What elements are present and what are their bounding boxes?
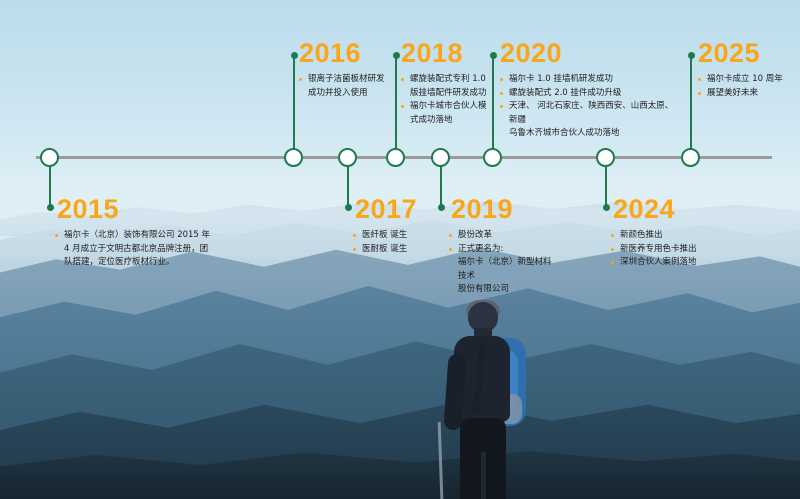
timeline-bullet-item: 福尔卡 1.0 挂墙机研发成功 [500, 73, 680, 87]
timeline-entry-2018[interactable]: 2018螺旋装配式专利 1.0版挂墙配件研发成功福尔卡城市合伙人模式成功落地 [401, 40, 493, 127]
timeline-bullet-item: 股份改革 [449, 229, 554, 243]
timeline-bullet-line: 队搭建，定位医疗板材行业。 [64, 256, 230, 270]
timeline-bullet-item: 福尔卡（北京）装饰有限公司 2015 年4 月成立于文明古都北京品牌注册，团队搭… [55, 229, 230, 270]
timeline-node-2018[interactable] [386, 148, 405, 167]
timeline-bullet-line: 版挂墙配件研发成功 [410, 87, 493, 101]
timeline-bullet-list: 福尔卡成立 10 周年展望美好未来 [698, 73, 800, 100]
timeline-node-2016[interactable] [284, 148, 303, 167]
hiker-leg-gap [481, 452, 486, 499]
timeline-bullet-line: 天津、 河北石家庄、陕西西安、山西太原、新疆 [509, 101, 673, 125]
timeline-bullet-line: 展望美好未来 [707, 88, 758, 98]
timeline-node-2024[interactable] [596, 148, 615, 167]
timeline-entry-2024[interactable]: 2024新颜色推出新医养专用色卡推出深圳合伙人案例落地 [611, 196, 731, 270]
timeline-bullet-line: 福尔卡城市合伙人模 [410, 101, 487, 111]
timeline-bullet-item: 展望美好未来 [698, 87, 800, 101]
timeline-entry-2017[interactable]: 2017医纤板 诞生医耐板 诞生 [353, 196, 448, 256]
timeline-bullet-list: 福尔卡 1.0 挂墙机研发成功螺旋装配式 2.0 挂件成功升级天津、 河北石家庄… [500, 73, 680, 141]
timeline-bullet-line: 股份改革 [458, 230, 492, 240]
timeline-year-label: 2017 [355, 196, 448, 223]
timeline-bullet-item: 医耐板 诞生 [353, 243, 448, 257]
timeline-bullet-item: 正式更名为:福尔卡（北京）新型材料技术股份有限公司 [449, 243, 554, 297]
timeline-entry-2015[interactable]: 2015福尔卡（北京）装饰有限公司 2015 年4 月成立于文明古都北京品牌注册… [55, 196, 230, 270]
timeline-stem-dot-2015 [47, 204, 54, 211]
timeline-bullet-line: 新颜色推出 [620, 230, 663, 240]
timeline-bullet-item: 福尔卡城市合伙人模式成功落地 [401, 100, 493, 127]
timeline-bullet-list: 银离子洁菌板材研发成功并投入使用 [299, 73, 409, 100]
timeline-stem-dot-2017 [345, 204, 352, 211]
timeline-entry-2025[interactable]: 2025福尔卡成立 10 周年展望美好未来 [698, 40, 800, 100]
timeline-infographic: 2015福尔卡（北京）装饰有限公司 2015 年4 月成立于文明古都北京品牌注册… [0, 0, 800, 499]
timeline-bullet-line: 股份有限公司 [458, 283, 554, 297]
timeline-bullet-line: 成功并投入使用 [308, 87, 409, 101]
timeline-node-2025[interactable] [681, 148, 700, 167]
timeline-bullet-item: 银离子洁菌板材研发成功并投入使用 [299, 73, 409, 100]
timeline-bullet-line: 福尔卡 1.0 挂墙机研发成功 [509, 74, 613, 84]
timeline-stem-dot-2016 [291, 52, 298, 59]
timeline-bullet-line: 深圳合伙人案例落地 [620, 257, 697, 267]
hiker-figure [430, 302, 548, 499]
trekking-pole [438, 422, 444, 499]
timeline-bullet-line: 式成功落地 [410, 114, 493, 128]
timeline-year-label: 2020 [500, 40, 680, 67]
timeline-bullet-line: 福尔卡（北京）装饰有限公司 2015 年 [64, 230, 210, 240]
timeline-bullet-line: 新医养专用色卡推出 [620, 244, 697, 254]
timeline-bullet-item: 螺旋装配式专利 1.0版挂墙配件研发成功 [401, 73, 493, 100]
timeline-node-2020[interactable] [483, 148, 502, 167]
timeline-entry-2016[interactable]: 2016银离子洁菌板材研发成功并投入使用 [299, 40, 409, 100]
timeline-bullet-item: 新颜色推出 [611, 229, 731, 243]
timeline-bullet-line: 螺旋装配式专利 1.0 [410, 74, 486, 84]
timeline-year-label: 2025 [698, 40, 800, 67]
timeline-year-label: 2019 [451, 196, 554, 223]
timeline-year-label: 2018 [401, 40, 493, 67]
timeline-bullet-line: 医耐板 诞生 [362, 244, 407, 254]
timeline-bullet-list: 螺旋装配式专利 1.0版挂墙配件研发成功福尔卡城市合伙人模式成功落地 [401, 73, 493, 127]
timeline-node-2019[interactable] [431, 148, 450, 167]
timeline-node-2017[interactable] [338, 148, 357, 167]
timeline-year-label: 2016 [299, 40, 409, 67]
timeline-bullet-line: 螺旋装配式 2.0 挂件成功升级 [509, 88, 621, 98]
timeline-bullet-item: 福尔卡成立 10 周年 [698, 73, 800, 87]
timeline-bullet-item: 深圳合伙人案例落地 [611, 256, 731, 270]
timeline-stem-dot-2025 [688, 52, 695, 59]
timeline-bullet-item: 螺旋装配式 2.0 挂件成功升级 [500, 87, 680, 101]
timeline-bullet-list: 新颜色推出新医养专用色卡推出深圳合伙人案例落地 [611, 229, 731, 270]
timeline-stem-2016 [293, 55, 295, 157]
timeline-node-2015[interactable] [40, 148, 59, 167]
timeline-entry-2020[interactable]: 2020福尔卡 1.0 挂墙机研发成功螺旋装配式 2.0 挂件成功升级天津、 河… [500, 40, 680, 141]
timeline-bullet-list: 股份改革正式更名为:福尔卡（北京）新型材料技术股份有限公司 [449, 229, 554, 297]
timeline-bullet-item: 医纤板 诞生 [353, 229, 448, 243]
timeline-stem-dot-2024 [603, 204, 610, 211]
timeline-stem-2025 [690, 55, 692, 157]
timeline-bullet-line: 医纤板 诞生 [362, 230, 407, 240]
timeline-year-label: 2024 [613, 196, 731, 223]
timeline-bullet-line: 银离子洁菌板材研发 [308, 74, 385, 84]
timeline-entry-2019[interactable]: 2019股份改革正式更名为:福尔卡（北京）新型材料技术股份有限公司 [449, 196, 554, 297]
timeline-bullet-line: 福尔卡成立 10 周年 [707, 74, 783, 84]
timeline-bullet-line: 正式更名为: [458, 244, 503, 254]
timeline-bullet-list: 福尔卡（北京）装饰有限公司 2015 年4 月成立于文明古都北京品牌注册，团队搭… [55, 229, 230, 270]
timeline-bullet-line: 4 月成立于文明古都北京品牌注册，团 [64, 243, 230, 257]
timeline-bullet-item: 新医养专用色卡推出 [611, 243, 731, 257]
timeline-bullet-line: 福尔卡（北京）新型材料技术 [458, 256, 554, 283]
timeline-year-label: 2015 [57, 196, 230, 223]
timeline-bullet-list: 医纤板 诞生医耐板 诞生 [353, 229, 448, 256]
timeline-bullet-line: 乌鲁木齐城市合伙人成功落地 [509, 127, 680, 141]
timeline-bullet-item: 天津、 河北石家庄、陕西西安、山西太原、新疆乌鲁木齐城市合伙人成功落地 [500, 100, 680, 141]
